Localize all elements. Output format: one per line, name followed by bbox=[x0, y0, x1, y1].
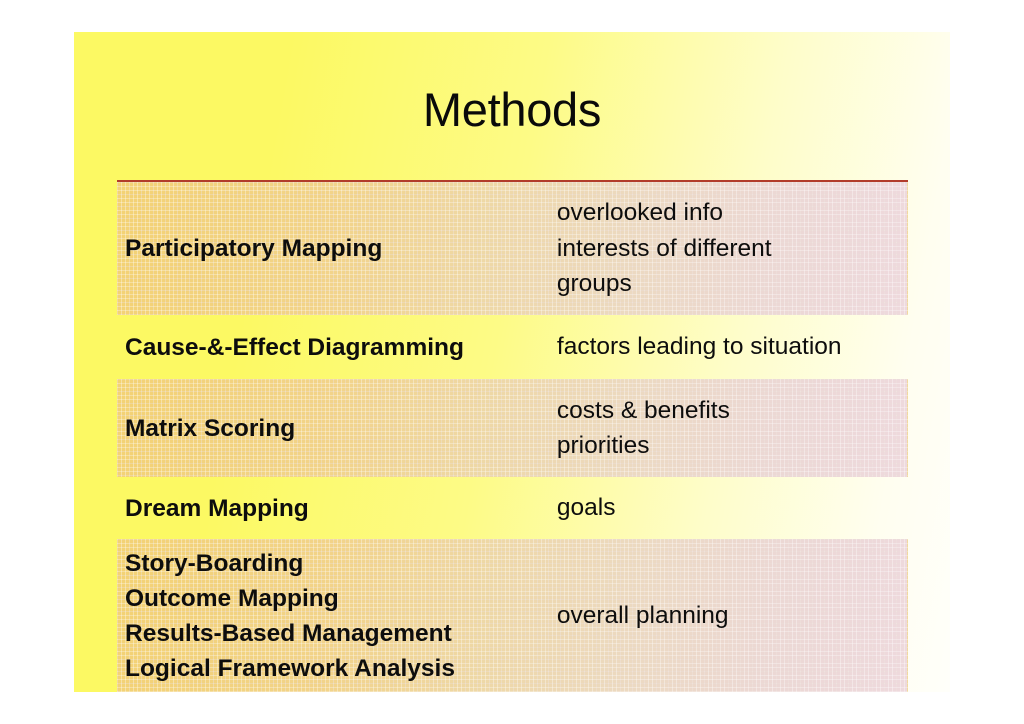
table-row: Participatory Mapping overlooked infoint… bbox=[117, 181, 908, 315]
method-purpose-cell: overlooked infointerests of differentgro… bbox=[548, 181, 908, 315]
purpose-line: interests of different bbox=[557, 235, 772, 262]
purpose-line: priorities bbox=[557, 432, 650, 459]
purpose-line: overlooked info bbox=[557, 199, 723, 226]
table-row: Story-BoardingOutcome MappingResults-Bas… bbox=[117, 539, 908, 692]
page-title: Methods bbox=[74, 86, 950, 133]
method-line: Outcome Mapping bbox=[125, 585, 339, 612]
method-line: Story-Boarding bbox=[125, 550, 303, 577]
method-name-cell: Matrix Scoring bbox=[117, 379, 548, 477]
method-name-cell: Participatory Mapping bbox=[117, 181, 548, 315]
method-purpose-cell: costs & benefitspriorities bbox=[548, 379, 908, 477]
method-purpose-cell: factors leading to situation bbox=[548, 315, 908, 379]
method-name-cell: Cause-&-Effect Diagramming bbox=[117, 315, 548, 379]
method-purpose-cell: overall planning bbox=[548, 539, 908, 692]
table-row: Cause-&-Effect Diagramming factors leadi… bbox=[117, 315, 908, 379]
method-purpose-cell: goals bbox=[548, 477, 908, 539]
purpose-line: groups bbox=[557, 270, 632, 297]
methods-table: Participatory Mapping overlooked infoint… bbox=[117, 180, 908, 692]
table-row: Dream Mapping goals bbox=[117, 477, 908, 539]
method-line: Results-Based Management bbox=[125, 620, 452, 647]
method-line: Logical Framework Analysis bbox=[125, 655, 455, 682]
purpose-line: costs & benefits bbox=[557, 397, 730, 424]
methods-table-body: Participatory Mapping overlooked infoint… bbox=[117, 181, 908, 692]
method-name-cell: Story-BoardingOutcome MappingResults-Bas… bbox=[117, 539, 548, 692]
presentation-slide: Methods Participatory Mapping overlooked… bbox=[74, 32, 950, 692]
method-name-cell: Dream Mapping bbox=[117, 477, 548, 539]
table-row: Matrix Scoring costs & benefitsprioritie… bbox=[117, 379, 908, 477]
slide-page: Methods Participatory Mapping overlooked… bbox=[0, 0, 1024, 724]
